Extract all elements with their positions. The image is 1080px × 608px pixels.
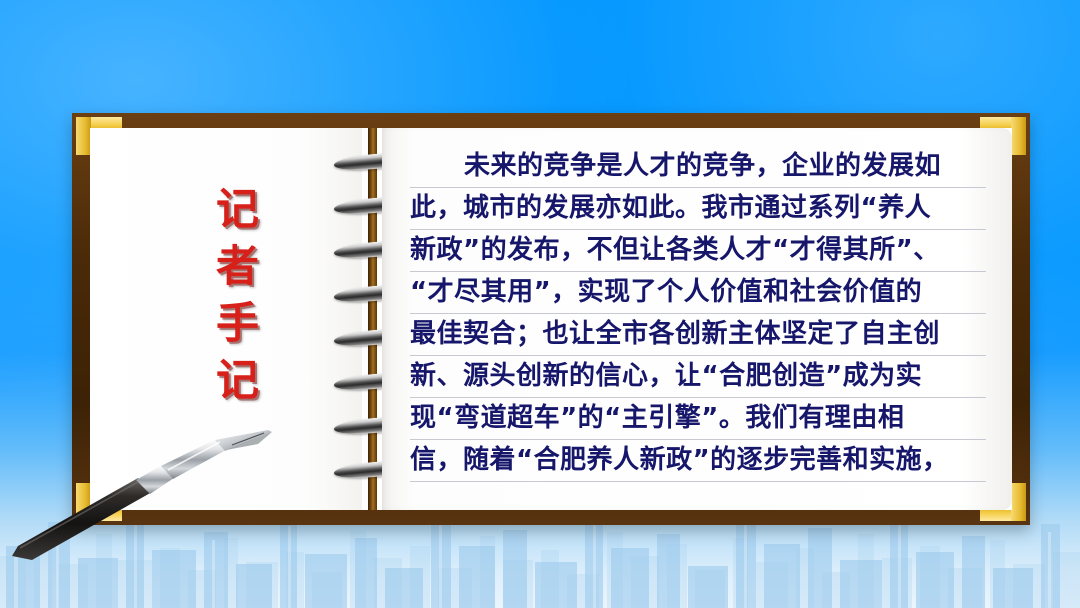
page-title: 记者手记 [210,186,256,414]
article-line: 最佳契合；也让全市各创新主体坚定了自主创 [410,314,986,356]
article-body: 未来的竞争是人才的竞争，企业的发展如 此，城市的发展亦如此。我市通过系列“养人 … [410,146,986,482]
article-line: “才尽其用”，实现了个人价值和社会价值的 [410,272,986,314]
article-line: 新、源头创新的信心，让“合肥创造”成为实 [410,356,986,398]
article-line: 现“弯道超车”的“主引擎”。我们有理由相 [410,398,986,440]
article-line: 新政”的发布，不但让各类人才“才得其所”、 [410,230,986,272]
fountain-pen-icon [10,430,300,560]
notebook-page-right: 未来的竞争是人才的竞争，企业的发展如 此，城市的发展亦如此。我市通过系列“养人 … [382,128,1012,510]
article-line: 未来的竞争是人才的竞争，企业的发展如 [410,146,986,188]
slide-canvas: 记者手记 未来的竞争是人才的竞争，企业的发展如 此，城市的发展亦如此。我市通过系… [0,0,1080,608]
article-line: 信，随着“合肥养人新政”的逐步完善和实施， [410,440,986,482]
article-line: 此，城市的发展亦如此。我市通过系列“养人 [410,188,986,230]
